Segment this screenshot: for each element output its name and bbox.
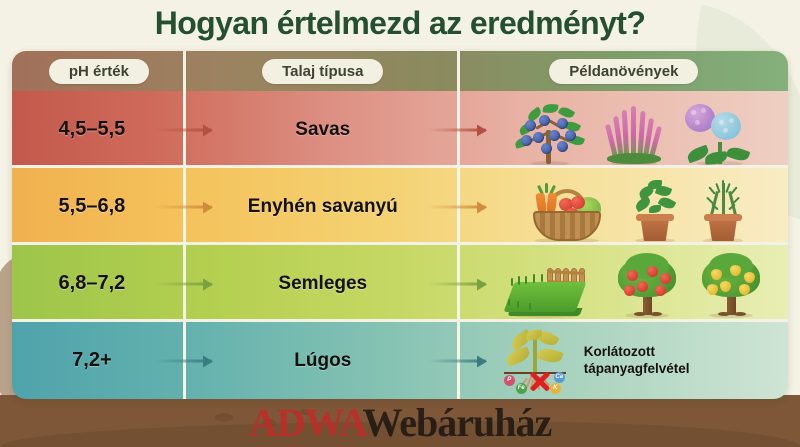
table-row: 5,5–6,8 Enyhén savanyú [12, 168, 788, 245]
ph-value-text: 6,8–7,2 [59, 272, 126, 295]
table-row: 7,2+ Lúgos [12, 322, 788, 399]
ph-value-text: 7,2+ [72, 349, 111, 372]
column-divider [457, 168, 460, 245]
cell-example-plants [460, 245, 788, 322]
nutrient-deficiency-illustration: P Ca Fe K Korlátozott tápanyagfelvétel [460, 330, 788, 392]
column-divider [183, 245, 186, 322]
soil-type-text: Semleges [278, 273, 367, 295]
blueberry-bush-icon [513, 102, 585, 164]
cell-ph-value: 7,2+ [12, 322, 186, 399]
soil-pebble [215, 413, 233, 422]
soil-pebble [262, 419, 276, 427]
limited-nutrient-uptake-note: Korlátozott tápanyagfelvétel [584, 344, 690, 378]
ph-interpretation-table: pH érték Talaj típusa Példanövények 4,5–… [12, 51, 788, 399]
heather-plant-icon [601, 102, 667, 164]
header-pill-label: Talaj típusa [262, 59, 383, 84]
plant-illustration-group [460, 245, 788, 322]
blocked-uptake-x-icon [528, 369, 552, 393]
nutrient-badge-fe: Fe [516, 383, 527, 394]
cell-soil-type: Enyhén savanyú [186, 168, 460, 245]
row-divider [12, 242, 788, 245]
cell-ph-value: 6,8–7,2 [12, 245, 186, 322]
nutrient-badge-p: P [504, 375, 515, 386]
column-divider [183, 168, 186, 245]
table-row: 4,5–5,5 Savas [12, 91, 788, 168]
cell-soil-type: Semleges [186, 245, 460, 322]
soil-type-text: Enyhén savanyú [248, 196, 398, 218]
header-pill-label: Példanövények [549, 59, 698, 84]
table-row: 6,8–7,2 Semleges [12, 245, 788, 322]
column-divider [183, 91, 186, 168]
vegetable-basket-icon [521, 179, 613, 241]
cell-soil-type: Savas [186, 91, 460, 168]
soil-type-text: Lúgos [294, 350, 351, 372]
cell-example-plants: P Ca Fe K Korlátozott tápanyagfelvétel [460, 322, 788, 399]
background-soil-band [0, 395, 800, 447]
column-divider [457, 322, 460, 399]
cell-ph-value: 4,5–5,5 [12, 91, 186, 168]
table-header-row: pH érték Talaj típusa Példanövények [12, 51, 788, 91]
soil-shade [0, 421, 800, 447]
basil-pot-icon [629, 179, 681, 241]
apple-tree-icon [613, 256, 681, 318]
row-divider [12, 165, 788, 168]
table-header-ph: pH érték [12, 51, 186, 91]
plant-illustration-group [460, 91, 788, 168]
table-header-examples: Példanövények [460, 51, 788, 91]
column-divider [457, 91, 460, 168]
cell-example-plants [460, 168, 788, 245]
nutrient-badge-ca: Ca [554, 372, 565, 383]
soil-pebble [300, 409, 310, 415]
soil-type-text: Savas [295, 119, 350, 141]
pear-tree-icon [697, 256, 765, 318]
column-divider [183, 322, 186, 399]
table-header-soil-type: Talaj típusa [186, 51, 460, 91]
ph-value-text: 5,5–6,8 [59, 195, 126, 218]
cell-example-plants [460, 91, 788, 168]
lawn-with-fence-icon [505, 256, 597, 318]
hydrangea-flowers-icon [683, 102, 757, 164]
row-divider [12, 319, 788, 322]
rosemary-pot-icon [697, 179, 749, 241]
ph-value-text: 4,5–5,5 [59, 118, 126, 141]
page-title: Hogyan értelmezd az eredményt? [0, 0, 800, 42]
column-divider [457, 245, 460, 322]
cell-ph-value: 5,5–6,8 [12, 168, 186, 245]
cell-soil-type: Lúgos [186, 322, 460, 399]
header-pill-label: pH érték [49, 59, 149, 84]
plant-illustration-group [460, 168, 788, 245]
nutrient-deficient-plant-icon: P Ca Fe K [496, 330, 574, 392]
